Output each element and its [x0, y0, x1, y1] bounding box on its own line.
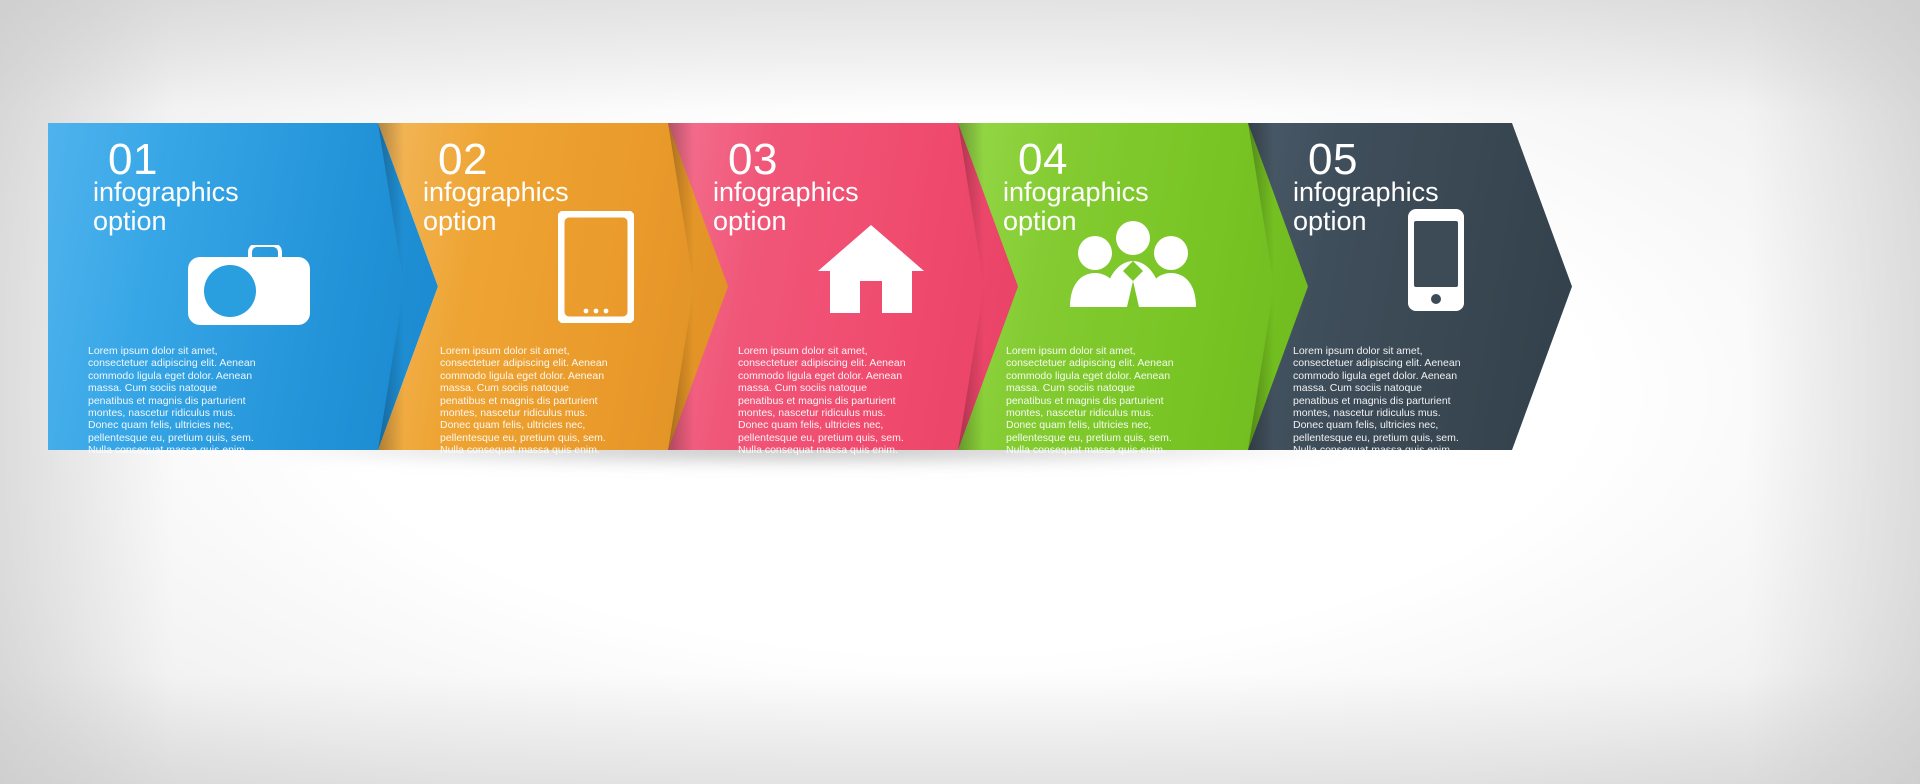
step-number-01: 01 [108, 138, 158, 182]
step-body-03: Lorem ipsum dolor sit amet, consectetuer… [738, 345, 910, 457]
infographic-canvas: 01 infographicsoption Lorem ipsum dolor … [0, 0, 1920, 784]
step-body-01: Lorem ipsum dolor sit amet, consectetuer… [88, 345, 260, 457]
step-title-05-line2: option [1293, 206, 1367, 236]
step-title-02-line2: option [423, 206, 497, 236]
home-icon [816, 223, 926, 315]
smartphone-icon [1408, 209, 1464, 311]
step-title-01: infographicsoption [93, 178, 239, 236]
tablet-icon [558, 211, 634, 323]
camera-icon [188, 245, 310, 325]
arrow-steps-band: 01 infographicsoption Lorem ipsum dolor … [48, 123, 1572, 450]
step-body-05: Lorem ipsum dolor sit amet, consectetuer… [1293, 345, 1465, 457]
step-number-04: 04 [1018, 138, 1068, 182]
step-title-01-line1: infographics [93, 177, 239, 207]
step-title-01-line2: option [93, 206, 167, 236]
step-title-02: infographicsoption [423, 178, 569, 236]
step-title-04-line2: option [1003, 206, 1077, 236]
people-icon [1068, 221, 1198, 309]
step-number-05: 05 [1308, 138, 1358, 182]
step-title-03-line2: option [713, 206, 787, 236]
step-panel-05[interactable]: 05 infographicsoption Lorem ipsum dolor … [1248, 123, 1572, 450]
step-title-05-line1: infographics [1293, 177, 1439, 207]
step-title-04-line1: infographics [1003, 177, 1149, 207]
step-number-02: 02 [438, 138, 488, 182]
step-title-03-line1: infographics [713, 177, 859, 207]
step-body-02: Lorem ipsum dolor sit amet, consectetuer… [440, 345, 612, 457]
step-title-02-line1: infographics [423, 177, 569, 207]
step-number-03: 03 [728, 138, 778, 182]
step-body-04: Lorem ipsum dolor sit amet, consectetuer… [1006, 345, 1178, 457]
